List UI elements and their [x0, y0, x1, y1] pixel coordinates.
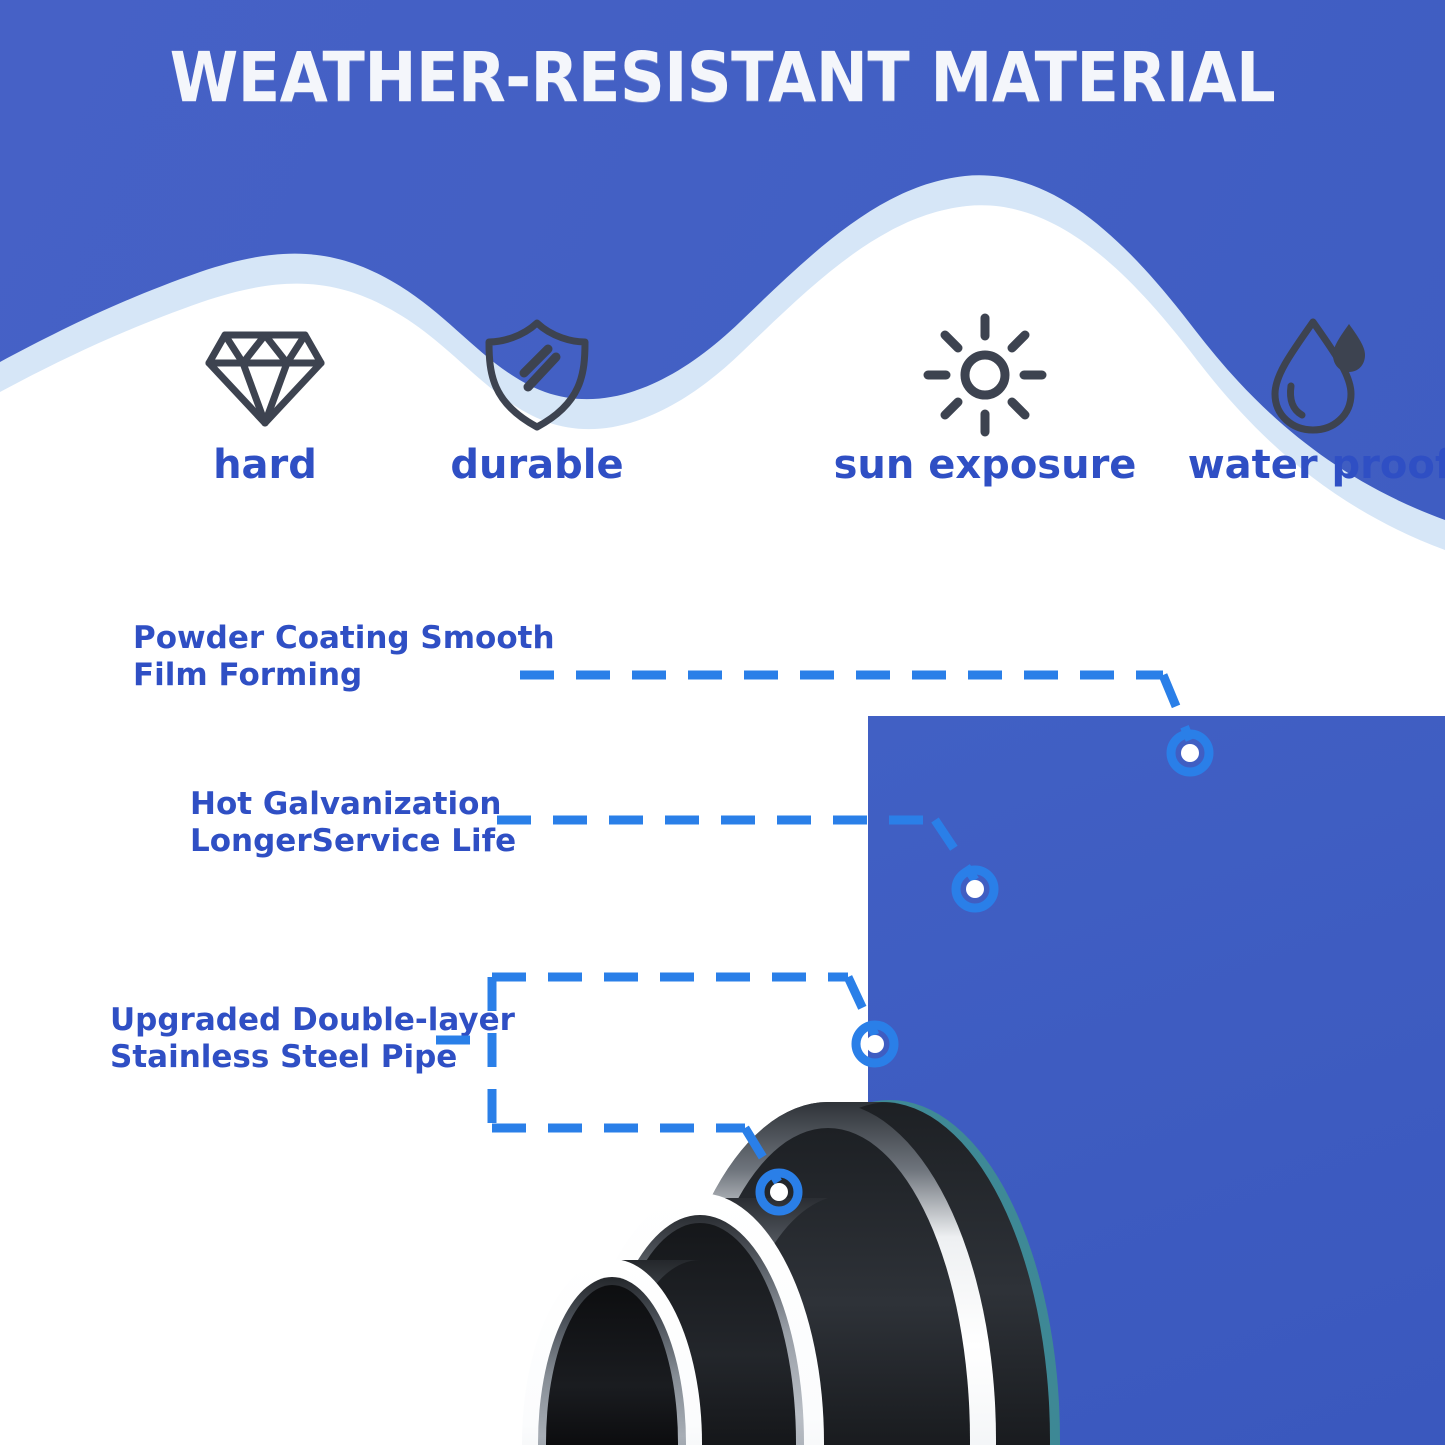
product-image-duct-reducer	[560, 700, 1080, 1445]
water-drop-icon	[1040, 315, 1445, 435]
feature-label: hard	[150, 445, 380, 485]
feature-label: water proof	[1040, 445, 1445, 485]
feature-row: hard durable	[0, 315, 1445, 535]
diamond-icon	[150, 315, 380, 435]
page-title: WEATHER-RESISTANT MATERIAL	[72, 44, 1373, 113]
feature-hard: hard	[150, 315, 380, 485]
infographic-canvas: WEATHER-RESISTANT MATERIAL hard	[0, 0, 1445, 1445]
callout-label-powder-coating: Powder Coating Smooth Film Forming	[133, 620, 555, 693]
feature-water-proof: water proof	[1040, 315, 1445, 485]
shield-icon	[412, 315, 662, 435]
feature-label: durable	[412, 445, 662, 485]
callout-label-double-layer-pipe: Upgraded Double-layer Stainless Steel Pi…	[110, 1002, 515, 1075]
callout-label-hot-galvanization: Hot Galvanization LongerService Life	[190, 786, 516, 859]
feature-durable: durable	[412, 315, 662, 485]
